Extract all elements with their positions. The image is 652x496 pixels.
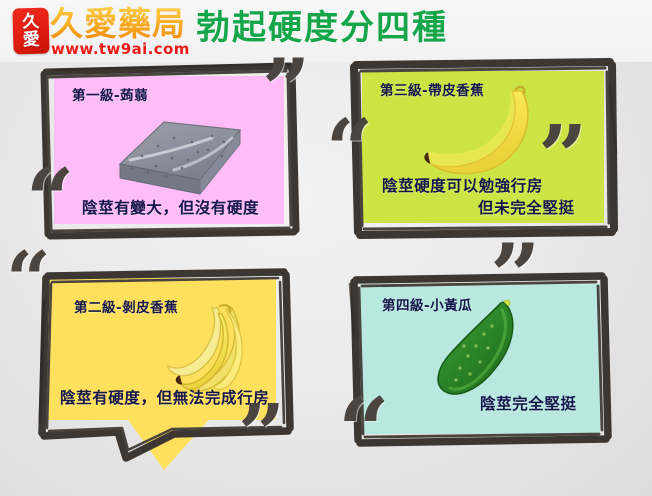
- banana-peeled-icon: [162, 304, 272, 400]
- seal-char-bottom: 愛: [23, 31, 40, 49]
- panel-1-level-label: 第一級-蒟蒻: [72, 88, 148, 104]
- panel-level-2: 第二級-剝皮香蕉 陰莖有硬度，但無法完成行房 “ ”: [22, 262, 304, 458]
- closing-quote-icon: ”: [262, 48, 310, 132]
- brand-url[interactable]: www.tw9ai.com: [51, 41, 190, 57]
- opening-quote-icon: “: [326, 109, 373, 191]
- header-bar: 久 愛 久愛藥局 www.tw9ai.com 勃起硬度分四種: [0, 0, 652, 62]
- panel-2-level-label: 第三級-帶皮香蕉: [380, 83, 484, 99]
- panel-level-3: 第三級-帶皮香蕉 陰莖硬度可以勉強行房 但未完全堅挺 “ ”: [348, 57, 620, 239]
- konjac-block-icon: [112, 108, 252, 200]
- panel-4-level-label: 第四級-小黃瓜: [382, 298, 472, 314]
- brand-seal-logo: 久 愛: [12, 8, 49, 55]
- seal-char-top: 久: [22, 13, 39, 31]
- page-title: 勃起硬度分四種: [196, 8, 448, 48]
- panel-level-1: 第一級-蒟蒻 陰莖有變大，但沒有硬度 ” “: [40, 62, 300, 240]
- brand-name: 久愛藥局: [50, 6, 186, 42]
- panel-level-4: 第四級-小黃瓜 陰莖完全堅挺 ” “: [346, 270, 616, 450]
- closing-quote-icon: ”: [238, 394, 285, 476]
- erection-hardness-infographic: 久 愛 久愛藥局 www.tw9ai.com 勃起硬度分四種: [0, 0, 652, 496]
- panel-3-level-label: 第二級-剝皮香蕉: [74, 300, 178, 316]
- closing-quote-icon: ”: [490, 232, 541, 320]
- closing-quote-icon: ”: [538, 115, 587, 201]
- opening-quote-icon: “: [26, 158, 74, 242]
- panel-2-caption-line-1: 陰莖硬度可以勉強行房: [382, 176, 543, 197]
- opening-quote-icon: “: [6, 242, 51, 320]
- panel-1-caption-line-1: 陰莖有變大，但沒有硬度: [82, 198, 259, 219]
- panel-4-caption-line-1: 陰莖完全堅挺: [480, 394, 577, 415]
- opening-quote-icon: “: [338, 386, 390, 476]
